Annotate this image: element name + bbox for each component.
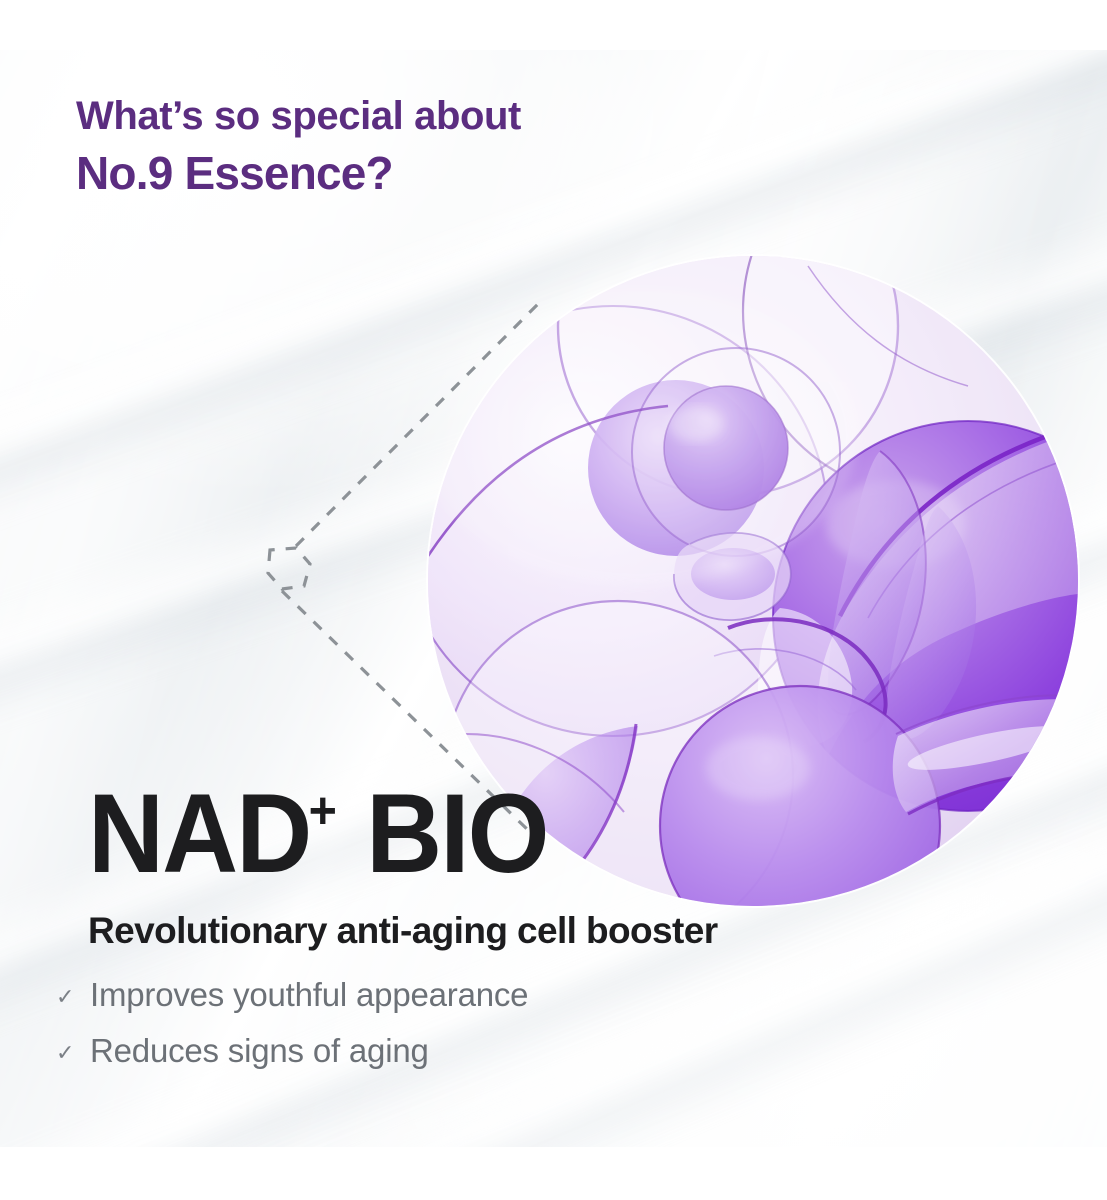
product-name-block: NAD+ BIO Revolutionary anti-aging cell b…	[88, 778, 718, 949]
product-tagline: Revolutionary anti-aging cell booster	[88, 912, 718, 949]
benefits-list: ✓ Improves youthful appearance ✓ Reduces…	[56, 978, 528, 1090]
benefit-label: Improves youthful appearance	[90, 978, 528, 1011]
benefit-label: Reduces signs of aging	[90, 1034, 429, 1067]
list-item: ✓ Improves youthful appearance	[56, 978, 528, 1011]
product-title: NAD+ BIO	[88, 778, 680, 890]
list-item: ✓ Reduces signs of aging	[56, 1034, 528, 1067]
product-title-superscript: +	[309, 781, 337, 839]
headline-line-2: No.9 Essence?	[76, 150, 521, 196]
headline-line-1: What’s so special about	[76, 96, 521, 136]
product-title-main: NAD	[88, 771, 310, 896]
check-icon: ✓	[56, 1042, 78, 1064]
product-title-tail: BIO	[339, 771, 548, 896]
promo-banner: What’s so special about No.9 Essence?	[0, 0, 1107, 1200]
headline-block: What’s so special about No.9 Essence?	[76, 96, 521, 196]
check-icon: ✓	[56, 986, 78, 1008]
